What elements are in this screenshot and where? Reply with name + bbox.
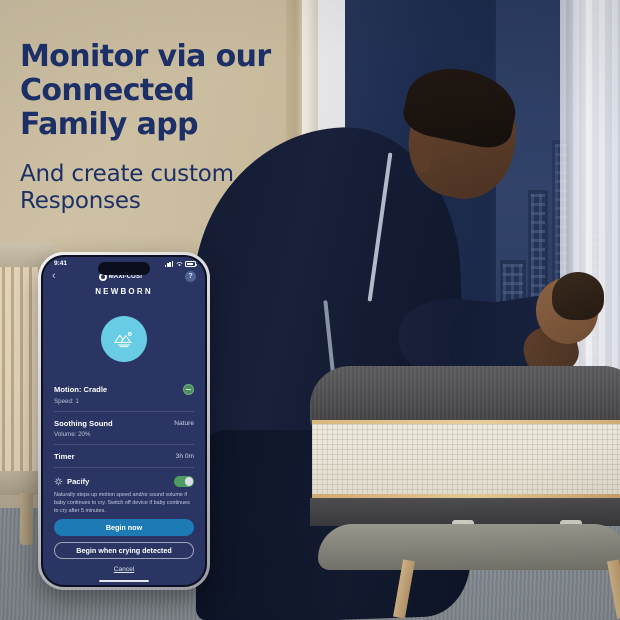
row-subtitle: Speed: 1	[54, 398, 194, 405]
begin-now-button[interactable]: Begin now	[54, 519, 194, 536]
help-icon[interactable]: ?	[185, 271, 196, 282]
row-value: Nature	[174, 420, 194, 427]
list-item[interactable]: Soothing Sound Nature Volume: 20%	[54, 412, 194, 445]
baby-hair	[552, 272, 604, 320]
promo-subheadline: And create custom Responses	[20, 161, 298, 216]
battery-icon	[185, 261, 196, 267]
bassinet-mesh-panel	[312, 424, 620, 496]
row-subtitle: Volume: 20%	[54, 431, 194, 438]
signal-bars-icon	[165, 261, 173, 267]
list-item[interactable]: Motion: Cradle Speed: 1	[54, 377, 194, 412]
father-ear	[414, 146, 432, 172]
settings-list: Motion: Cradle Speed: 1 Soothing Sound N…	[43, 377, 205, 519]
list-item[interactable]: Timer 3h 0m	[54, 445, 194, 468]
action-buttons: Begin now Begin when crying detected Can…	[43, 519, 205, 585]
pacify-icon	[54, 477, 63, 486]
row-title: Timer	[54, 452, 75, 461]
bassinet-rim	[310, 366, 620, 428]
phone-mockup: 9:41 ‹ MAXI-COSI ? NEWBORN	[38, 252, 210, 590]
back-icon[interactable]: ‹	[52, 271, 56, 282]
hero-section	[43, 303, 205, 377]
pacify-title: Pacify	[67, 477, 89, 486]
begin-when-crying-button[interactable]: Begin when crying detected	[54, 542, 194, 559]
cancel-button[interactable]: Cancel	[54, 566, 194, 573]
row-title: Motion: Cradle	[54, 385, 107, 394]
pacify-toggle[interactable]	[174, 476, 194, 487]
page-title: Monitor via our Connected Family app	[20, 40, 298, 143]
pacify-section: Pacify Naturally steps up motion speed a…	[54, 468, 194, 519]
home-indicator	[99, 580, 149, 582]
phone-notch	[98, 262, 150, 275]
bassinet-base	[318, 524, 620, 570]
app-screen: 9:41 ‹ MAXI-COSI ? NEWBORN	[43, 257, 205, 585]
newborn-mode-icon	[101, 316, 147, 362]
row-title: Soothing Sound	[54, 419, 113, 428]
status-time: 9:41	[54, 260, 67, 267]
row-value: 3h 0m	[176, 453, 194, 460]
wifi-icon	[176, 261, 183, 267]
motion-status-badge	[183, 384, 194, 395]
pacify-description: Naturally steps up motion speed and/or s…	[54, 491, 194, 515]
promo-copy: Monitor via our Connected Family app And…	[20, 40, 298, 216]
screen-title: NEWBORN	[43, 282, 205, 303]
